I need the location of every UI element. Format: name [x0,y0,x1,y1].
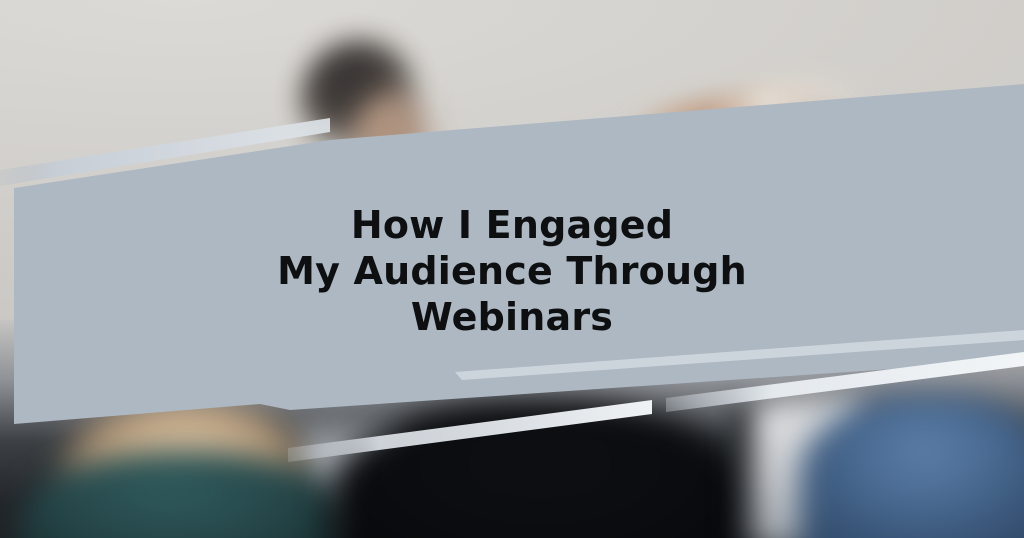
headline-line-1: How I Engaged [0,202,1024,248]
headline-line-3: Webinars [0,294,1024,340]
banner-headline: How I Engaged My Audience Through Webina… [0,202,1024,340]
banner-image: How I Engaged My Audience Through Webina… [0,0,1024,538]
headline-line-2: My Audience Through [0,248,1024,294]
